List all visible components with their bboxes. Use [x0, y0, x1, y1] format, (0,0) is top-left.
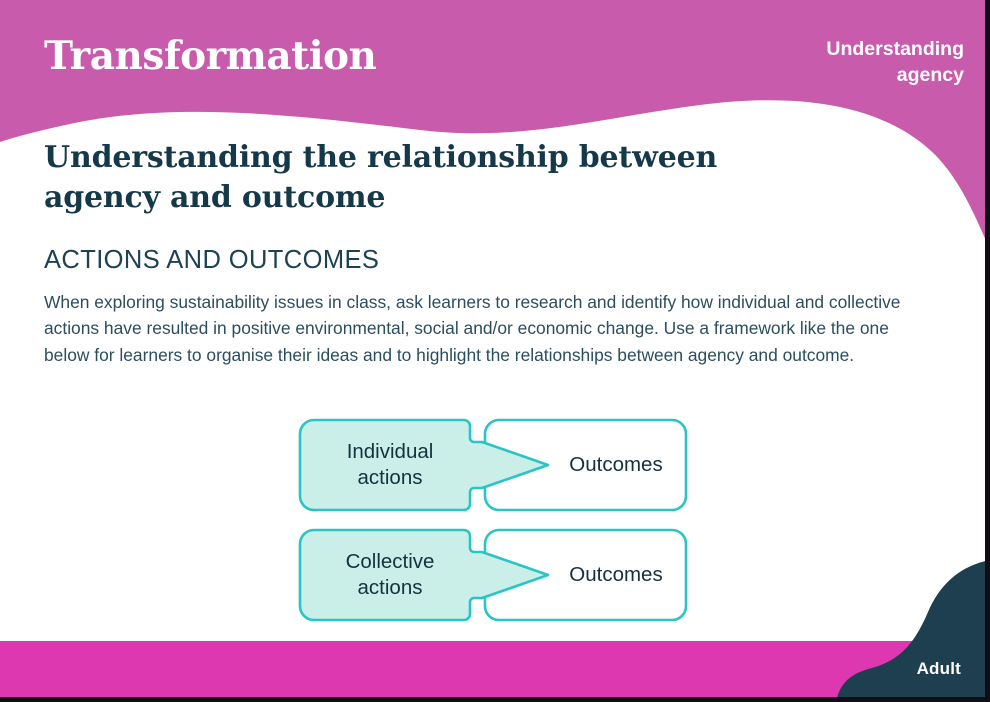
- flow-source-label: Individual actions: [302, 416, 478, 514]
- flow-row: Collective actions Outcomes: [296, 526, 690, 624]
- header-section-label-line2: agency: [734, 62, 964, 88]
- sub-heading: ACTIONS AND OUTCOMES: [44, 246, 944, 275]
- slide-header: Transformation Understanding agency: [0, 0, 990, 140]
- main-heading: Understanding the relationship between a…: [44, 138, 834, 218]
- footer-bar: [0, 641, 990, 697]
- header-section-label: Understanding agency: [734, 36, 964, 89]
- flow-source-label-line1: Individual: [347, 439, 434, 465]
- header-section-label-line1: Understanding: [734, 36, 964, 62]
- slide-canvas: Transformation Understanding agency Unde…: [0, 0, 990, 702]
- flow-row: Individual actions Outcomes: [296, 416, 690, 514]
- footer-audience-badge: Adult: [917, 659, 961, 679]
- flow-target-label: Outcomes: [546, 526, 686, 624]
- agency-outcome-framework-diagram: Individual actions Outcomes Collective a…: [296, 416, 696, 636]
- slide-content: Understanding the relationship between a…: [44, 138, 944, 368]
- flow-target-label: Outcomes: [546, 416, 686, 514]
- page-title: Transformation: [44, 36, 376, 77]
- flow-source-label-line2: actions: [346, 575, 435, 601]
- body-paragraph: When exploring sustainability issues in …: [44, 289, 934, 368]
- flow-source-label-line1: Collective: [346, 549, 435, 575]
- flow-source-label: Collective actions: [302, 526, 478, 624]
- flow-source-label-line2: actions: [347, 465, 434, 491]
